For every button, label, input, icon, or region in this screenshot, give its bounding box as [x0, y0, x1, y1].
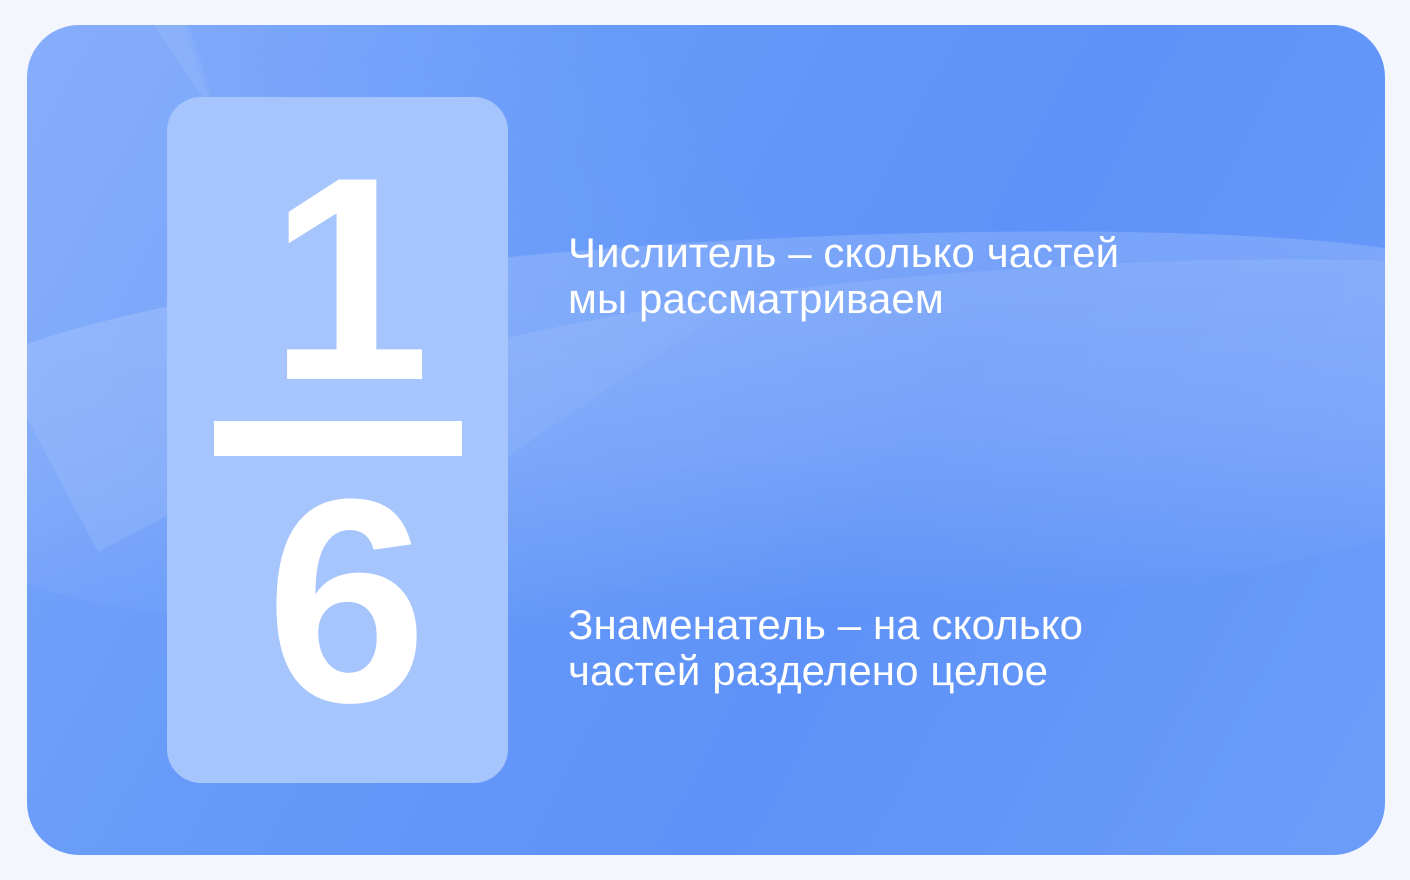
- fraction-numerator: 1: [269, 172, 424, 387]
- fraction-denominator: 6: [266, 494, 421, 709]
- fraction-tile: 1 6: [167, 97, 508, 783]
- numerator-explanation-text: Числитель – сколько частей мы рассматрив…: [568, 230, 1119, 322]
- denominator-explanation-text: Знаменатель – на сколько частей разделен…: [568, 602, 1083, 694]
- slide-stage: 1 6 Числитель – сколько частей мы рассма…: [0, 0, 1410, 880]
- fraction-explainer-card: 1 6 Числитель – сколько частей мы рассма…: [27, 25, 1385, 855]
